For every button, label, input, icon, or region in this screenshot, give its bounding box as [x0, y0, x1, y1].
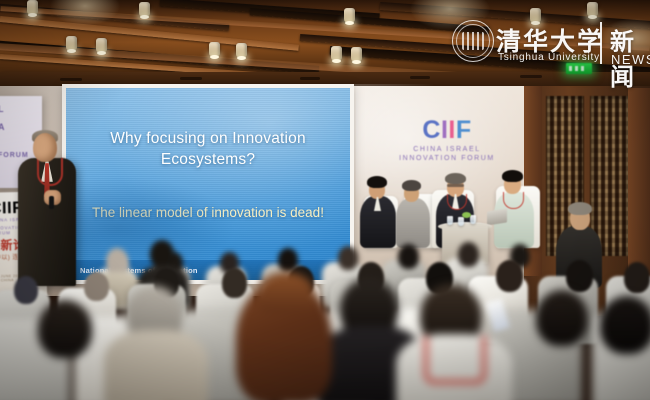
ciif-wordmark: CIIF	[392, 118, 502, 143]
watermark-divider	[600, 22, 602, 64]
water-glass	[447, 216, 453, 225]
watermark: 清华大学 Tsinghua University 新闻 NEWS	[450, 14, 646, 74]
ceiling-spotlight	[96, 38, 107, 53]
ceiling-spotlight	[331, 46, 342, 61]
projection-screen: Why focusing on Innovation Ecosystems? T…	[62, 84, 354, 284]
ceiling-spotlight	[139, 2, 150, 17]
slide-title-line2: Ecosystems?	[76, 149, 340, 170]
ciif-letter-c: C	[422, 116, 441, 144]
banner-top-line1: L	[0, 104, 4, 114]
slide-title-line1: Why focusing on Innovation	[76, 128, 340, 149]
tsinghua-seal-icon	[452, 20, 494, 62]
water-glass	[470, 215, 476, 224]
ciif-tagline-line1: CHINA ISRAEL	[392, 146, 502, 153]
slide-title: Why focusing on Innovation Ecosystems?	[76, 128, 340, 170]
ceiling-spotlight	[66, 36, 77, 51]
speaker-head	[33, 133, 57, 162]
ceiling-spotlight	[351, 47, 362, 62]
wall-pillar	[628, 88, 650, 288]
speaker-lanyard	[37, 158, 63, 186]
ciif-tagline-line2: INNOVATION FORUM	[392, 155, 502, 162]
ceiling-spotlight	[236, 43, 247, 58]
banner-top-line3: FORUM	[0, 152, 29, 159]
eyeglasses	[447, 184, 464, 187]
microphone	[49, 196, 54, 209]
table-plant	[462, 212, 471, 218]
ceiling-spotlight	[209, 42, 220, 57]
ceiling-spotlight	[27, 0, 38, 15]
ciif-letter-f: F	[456, 116, 472, 144]
slide-subtitle: The linear model of innovation is dead!	[74, 204, 342, 222]
ciif-wall-logo: CIIF CHINA ISRAEL INNOVATION FORUM	[392, 118, 502, 162]
water-glass	[458, 217, 464, 226]
ciif-letter-i2: I	[448, 116, 455, 144]
ceiling-spotlight	[344, 8, 355, 23]
banner-top-line2: A	[0, 122, 5, 132]
conference-photo: Why focusing on Innovation Ecosystems? T…	[0, 0, 650, 400]
watermark-news-english: NEWS	[611, 52, 650, 67]
watermark-english-name: Tsinghua University	[498, 52, 600, 63]
